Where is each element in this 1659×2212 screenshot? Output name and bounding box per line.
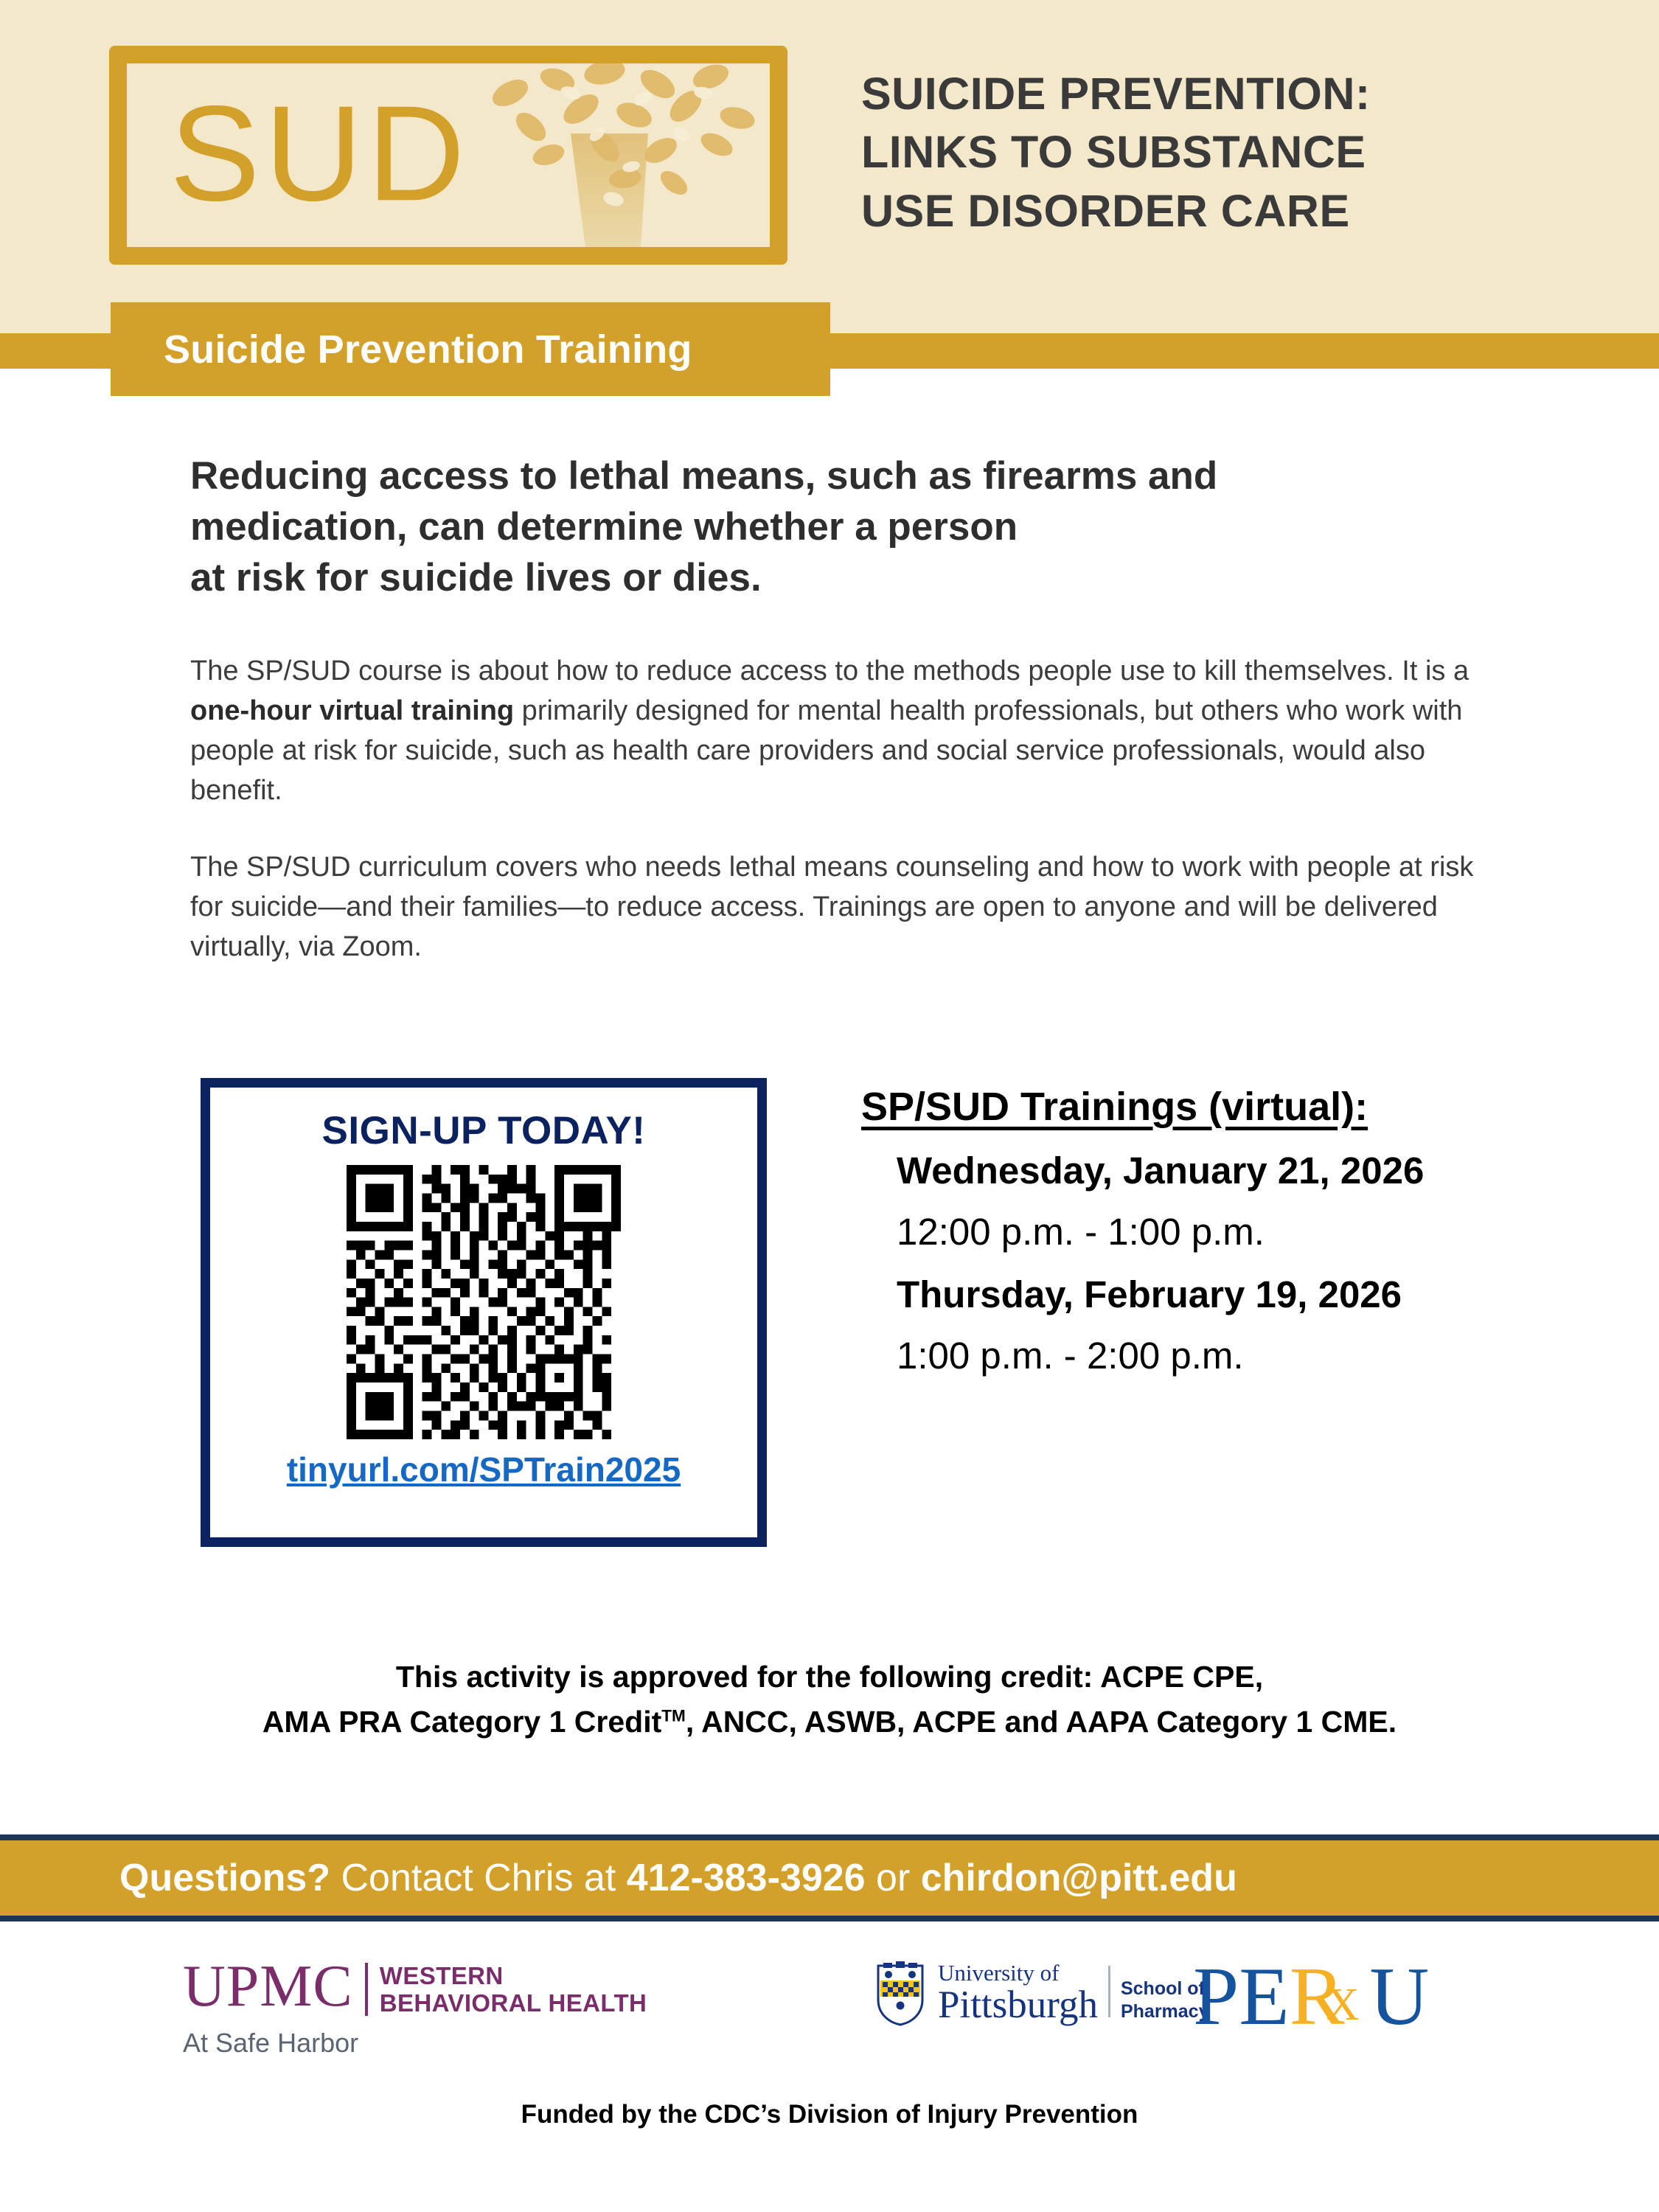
upmc-logo: UPMC WESTERN BEHAVIORAL HEALTH At Safe H… bbox=[183, 1960, 647, 2059]
pitt-shield-icon bbox=[876, 1961, 925, 2026]
page-title-line-2: LINKS TO SUBSTANCE bbox=[861, 123, 1569, 181]
signup-box[interactable]: SIGN-UP TODAY! bbox=[201, 1078, 767, 1547]
training-session: Thursday, February 19, 2026 1:00 p.m. - … bbox=[861, 1273, 1613, 1377]
credit-line-2: AMA PRA Category 1 CreditTM, ANCC, ASWB,… bbox=[0, 1700, 1659, 1745]
credit-line-1: This activity is approved for the follow… bbox=[0, 1655, 1659, 1700]
sud-logo-label: SUD bbox=[170, 85, 469, 220]
session-date: Thursday, February 19, 2026 bbox=[897, 1273, 1613, 1316]
session-time: 12:00 p.m. - 1:00 p.m. bbox=[897, 1210, 1613, 1253]
upmc-divider-rule bbox=[365, 1963, 368, 2016]
page-title-line-1: SUICIDE PREVENTION: bbox=[861, 65, 1569, 123]
contact-bar: Questions? Contact Chris at 412-383-3926… bbox=[0, 1834, 1659, 1921]
trademark-mark: TM bbox=[661, 1706, 686, 1725]
spilled-pills-artwork bbox=[460, 63, 770, 247]
contact-email[interactable]: chirdon@pitt.edu bbox=[921, 1857, 1237, 1899]
peru-logo-u: U bbox=[1369, 1951, 1429, 2042]
contact-phone[interactable]: 412-383-3926 bbox=[627, 1857, 866, 1899]
paragraph-1-part-a: The SP/SUD course is about how to reduce… bbox=[190, 655, 1469, 686]
trainings-heading: SP/SUD Trainings (virtual): bbox=[861, 1084, 1613, 1130]
sud-logo: SUD bbox=[109, 46, 787, 265]
training-tab-label: Suicide Prevention Training bbox=[111, 327, 692, 372]
lede-line-3: at risk for suicide lives or dies. bbox=[190, 553, 1444, 604]
upmc-logo-top: UPMC WESTERN BEHAVIORAL HEALTH bbox=[183, 1960, 647, 2017]
peru-logo-rx: RX bbox=[1290, 1951, 1345, 2042]
contact-conjunction: or bbox=[866, 1857, 921, 1899]
peru-logo-pe: PE bbox=[1193, 1951, 1290, 2042]
pitt-logo: University of Pittsburgh School of Pharm… bbox=[876, 1961, 1209, 2026]
lede-line-2: medication, can determine whether a pers… bbox=[190, 502, 1444, 553]
paragraph-1-emphasis: one-hour virtual training bbox=[190, 695, 514, 726]
pitt-wordmark-line-1: University of bbox=[938, 1960, 1059, 1986]
contact-text: Questions? Contact Chris at 412-383-3926… bbox=[0, 1856, 1237, 1900]
peru-logo-x: X bbox=[1326, 1982, 1360, 2028]
contact-mid-text: Contact Chris at bbox=[330, 1857, 627, 1899]
lede-line-1: Reducing access to lethal means, such as… bbox=[190, 451, 1444, 502]
lede-statement: Reducing access to lethal means, such as… bbox=[190, 451, 1444, 604]
description-paragraph-2: The SP/SUD curriculum covers who needs l… bbox=[190, 848, 1488, 967]
partner-logo-row: UPMC WESTERN BEHAVIORAL HEALTH At Safe H… bbox=[0, 1952, 1659, 2093]
signup-url-link[interactable]: tinyurl.com/SPTrain2025 bbox=[210, 1450, 757, 1489]
credit-statement: This activity is approved for the follow… bbox=[0, 1655, 1659, 1744]
page-title: SUICIDE PREVENTION: LINKS TO SUBSTANCE U… bbox=[861, 65, 1569, 240]
funding-statement: Funded by the CDC’s Division of Injury P… bbox=[0, 2100, 1659, 2129]
session-date: Wednesday, January 21, 2026 bbox=[897, 1149, 1613, 1192]
description-paragraph-1: The SP/SUD course is about how to reduce… bbox=[190, 652, 1488, 811]
trainings-section: SP/SUD Trainings (virtual): Wednesday, J… bbox=[861, 1084, 1613, 1377]
credit-line-2-part-a: AMA PRA Category 1 Credit bbox=[262, 1705, 661, 1739]
upmc-subbrand: WESTERN BEHAVIORAL HEALTH bbox=[380, 1960, 647, 2017]
pitt-wordmark-line-2: Pittsburgh bbox=[938, 1986, 1098, 2025]
sud-logo-inner: SUD bbox=[127, 63, 770, 247]
signup-title: SIGN-UP TODAY! bbox=[210, 1108, 757, 1153]
contact-questions-label: Questions? bbox=[119, 1857, 330, 1899]
page-title-line-3: USE DISORDER CARE bbox=[861, 182, 1569, 240]
flyer-page: SUD SUICIDE PREVENTION: LINKS TO SUBSTAN… bbox=[0, 0, 1659, 2212]
upmc-tagline: At Safe Harbor bbox=[183, 2028, 647, 2059]
session-time: 1:00 p.m. - 2:00 p.m. bbox=[897, 1334, 1613, 1377]
credit-line-2-part-b: , ANCC, ASWB, ACPE and AAPA Category 1 C… bbox=[686, 1705, 1397, 1739]
qr-code[interactable] bbox=[347, 1165, 621, 1439]
pitt-wordmark: University of Pittsburgh bbox=[938, 1961, 1098, 2025]
upmc-wordmark: UPMC bbox=[183, 1960, 353, 2014]
upmc-subbrand-line-1: WESTERN bbox=[380, 1962, 504, 1989]
pitt-divider-rule bbox=[1108, 1966, 1110, 2017]
peru-logo: PERXU bbox=[1193, 1955, 1429, 2038]
training-session: Wednesday, January 21, 2026 12:00 p.m. -… bbox=[861, 1149, 1613, 1253]
pitt-school-line-1: School of bbox=[1121, 1978, 1205, 1999]
training-tab: Suicide Prevention Training bbox=[111, 302, 830, 396]
upmc-subbrand-line-2: BEHAVIORAL HEALTH bbox=[380, 1989, 647, 2017]
